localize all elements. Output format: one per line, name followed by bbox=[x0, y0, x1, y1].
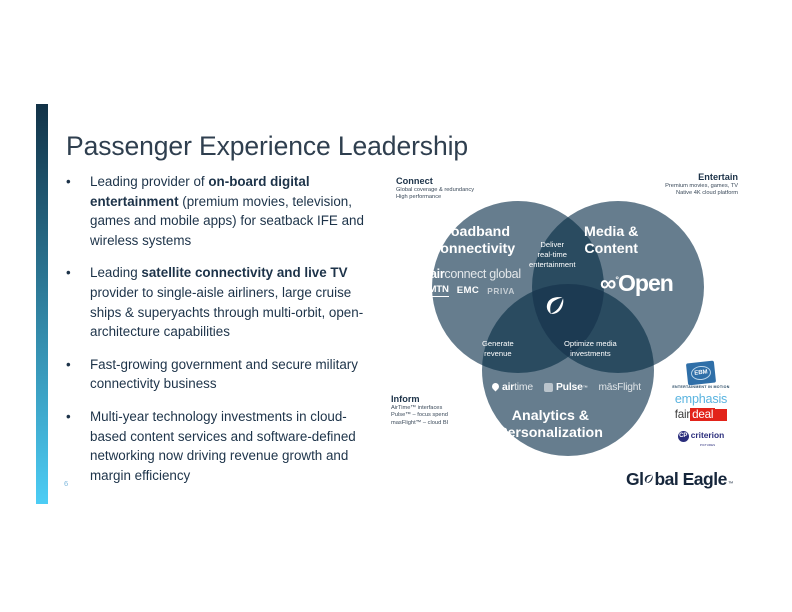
isect-optimize-l2: investments bbox=[564, 349, 617, 359]
intersection-label-optimize: Optimize media investments bbox=[564, 339, 617, 359]
page-number: 6 bbox=[64, 479, 68, 488]
logo-criterion-sub: PICTURES bbox=[691, 443, 725, 447]
logo-airtime-light: time bbox=[514, 382, 533, 393]
logo-priva: PRIVA bbox=[487, 286, 515, 296]
logo-criterion-badge: CP bbox=[678, 431, 689, 442]
logo-row-analytics: air time Pulse™ māsFlight bbox=[492, 382, 641, 393]
logo-pulse-label: Pulse bbox=[556, 382, 583, 393]
logo-criterion: CP criterion PICTURES bbox=[668, 425, 734, 447]
caption-connect-subtext: Global coverage & redundancy High perfor… bbox=[396, 187, 474, 202]
bullet-item-2: •Leading satellite connectivity and live… bbox=[63, 263, 383, 341]
logo-fairdeal-fair: fair bbox=[675, 408, 690, 421]
brand-seed-icon bbox=[643, 473, 654, 486]
circle-title-analytics: Analytics & Personalization bbox=[498, 408, 603, 441]
logo-pulse: Pulse™ bbox=[544, 382, 588, 393]
bullet-marker: • bbox=[66, 263, 71, 283]
logo-criterion-label: criterion bbox=[691, 430, 725, 440]
isect-deliver-l2: real-time bbox=[529, 250, 575, 260]
brand-name-part-2: bal Eagle bbox=[654, 469, 726, 490]
logo-airtime-bold: air bbox=[502, 382, 514, 393]
caption-connect-heading: Connect bbox=[396, 176, 433, 186]
isect-optimize-l1: Optimize media bbox=[564, 339, 617, 349]
circle-title-analytics-line2: Personalization bbox=[498, 425, 603, 442]
bullet-2-segment-3: provider to single-aisle airliners, larg… bbox=[90, 285, 363, 339]
logo-mtn: MTN bbox=[420, 284, 449, 297]
bullet-marker: • bbox=[66, 355, 71, 375]
logo-airconnect-global: air connect global bbox=[420, 267, 521, 281]
caption-entertain-heading: Entertain bbox=[698, 172, 738, 182]
bullet-item-4: •Multi-year technology investments in cl… bbox=[63, 407, 383, 485]
global-eagle-wordmark: Gl bal Eagle ™ bbox=[626, 469, 733, 490]
bullet-item-3: •Fast-growing government and secure mili… bbox=[63, 355, 383, 394]
logo-open-glyph: ∞ bbox=[600, 270, 615, 297]
left-accent-bar bbox=[36, 104, 48, 504]
bullet-marker: • bbox=[66, 172, 71, 192]
caption-inform-subtext: AirTime™ interfaces Pulse™ – focus spend… bbox=[391, 405, 448, 427]
isect-deliver-l3: entertainment bbox=[529, 260, 575, 270]
logo-criterion-text-wrap: criterion PICTURES bbox=[691, 425, 725, 447]
logo-emc: EMC bbox=[457, 285, 480, 296]
circle-title-analytics-line1: Analytics & bbox=[498, 408, 603, 425]
logo-open: ∞ °Open bbox=[600, 270, 673, 297]
logo-masflight: māsFlight bbox=[599, 382, 641, 393]
circle-title-broadband-line1: Broadband bbox=[430, 224, 515, 241]
logo-fairdeal-deal: deal bbox=[690, 408, 715, 421]
logo-mtn-label: MTN bbox=[429, 284, 449, 295]
caption-connect-line-2: High performance bbox=[396, 194, 474, 201]
caption-entertain-line-2: Native 4K cloud platform bbox=[665, 190, 738, 197]
caption-connect-line-1: Global coverage & redundancy bbox=[396, 187, 474, 194]
page-title: Passenger Experience Leadership bbox=[66, 131, 468, 162]
bullet-4-segment-1: Multi-year technology investments in clo… bbox=[90, 409, 356, 483]
caption-inform-line-1: AirTime™ interfaces bbox=[391, 405, 448, 412]
circle-title-media-line2: Content bbox=[584, 241, 638, 258]
logo-fairdeal: fair deal bbox=[668, 408, 734, 421]
mtn-dot-icon bbox=[420, 286, 427, 293]
isect-generate-l1: Generate bbox=[482, 339, 514, 349]
bullet-1-segment-1: Leading provider of bbox=[90, 174, 208, 189]
logo-airtime: air time bbox=[492, 382, 533, 393]
circle-title-broadband-line2: Connectivity bbox=[430, 241, 515, 258]
intersection-label-generate: Generate revenue bbox=[482, 339, 514, 359]
logo-open-label: °Open bbox=[615, 270, 672, 297]
intersection-label-deliver: Deliver real-time entertainment bbox=[529, 240, 575, 269]
bullet-2-segment-2: satellite connectivity and live TV bbox=[141, 265, 347, 280]
logo-emphasis: emphasis bbox=[668, 392, 734, 406]
logo-row-broadband-secondary: MTN EMC PRIVA bbox=[420, 284, 515, 297]
pulse-glyph-icon bbox=[544, 383, 553, 392]
caption-inform-line-2: Pulse™ – focus spend bbox=[391, 412, 448, 419]
isect-generate-l2: revenue bbox=[482, 349, 514, 359]
logo-ebm-mark: EBM bbox=[690, 365, 711, 381]
bullet-3-segment-1: Fast-growing government and secure milit… bbox=[90, 357, 358, 392]
logo-ebm-subtext: ENTERTAINMENT IN MOTION bbox=[668, 385, 734, 389]
caption-entertain-line-1: Premium movies, games, TV bbox=[665, 183, 738, 190]
circle-title-media: Media & Content bbox=[584, 224, 638, 257]
logo-ebm: EBM bbox=[686, 361, 716, 386]
logo-airconnect-light: connect global bbox=[444, 267, 520, 281]
global-eagle-seed-icon bbox=[544, 294, 566, 316]
slide-canvas: Passenger Experience Leadership •Leading… bbox=[0, 0, 792, 612]
bullet-marker: • bbox=[66, 407, 71, 427]
isect-deliver-l1: Deliver bbox=[529, 240, 575, 250]
caption-inform-line-3: masFlight™ – cloud BI bbox=[391, 420, 448, 427]
map-pin-icon bbox=[491, 382, 501, 392]
bullet-item-1: •Leading provider of on-board digital en… bbox=[63, 172, 383, 250]
bullet-2-segment-1: Leading bbox=[90, 265, 141, 280]
brand-trademark: ™ bbox=[728, 481, 734, 487]
circle-title-broadband: Broadband Connectivity bbox=[430, 224, 515, 257]
brand-name-part-1: Gl bbox=[626, 469, 643, 490]
caption-entertain-subtext: Premium movies, games, TV Native 4K clou… bbox=[665, 183, 738, 198]
partner-logo-stack: EBM ENTERTAINMENT IN MOTION emphasis fai… bbox=[668, 362, 734, 447]
bullet-list: •Leading provider of on-board digital en… bbox=[63, 172, 383, 498]
logo-airconnect-bold: air bbox=[430, 267, 444, 281]
caption-inform-heading: Inform bbox=[391, 394, 420, 404]
circle-title-media-line1: Media & bbox=[584, 224, 638, 241]
map-pin-icon bbox=[419, 268, 429, 278]
logo-fairdeal-block bbox=[715, 409, 727, 421]
